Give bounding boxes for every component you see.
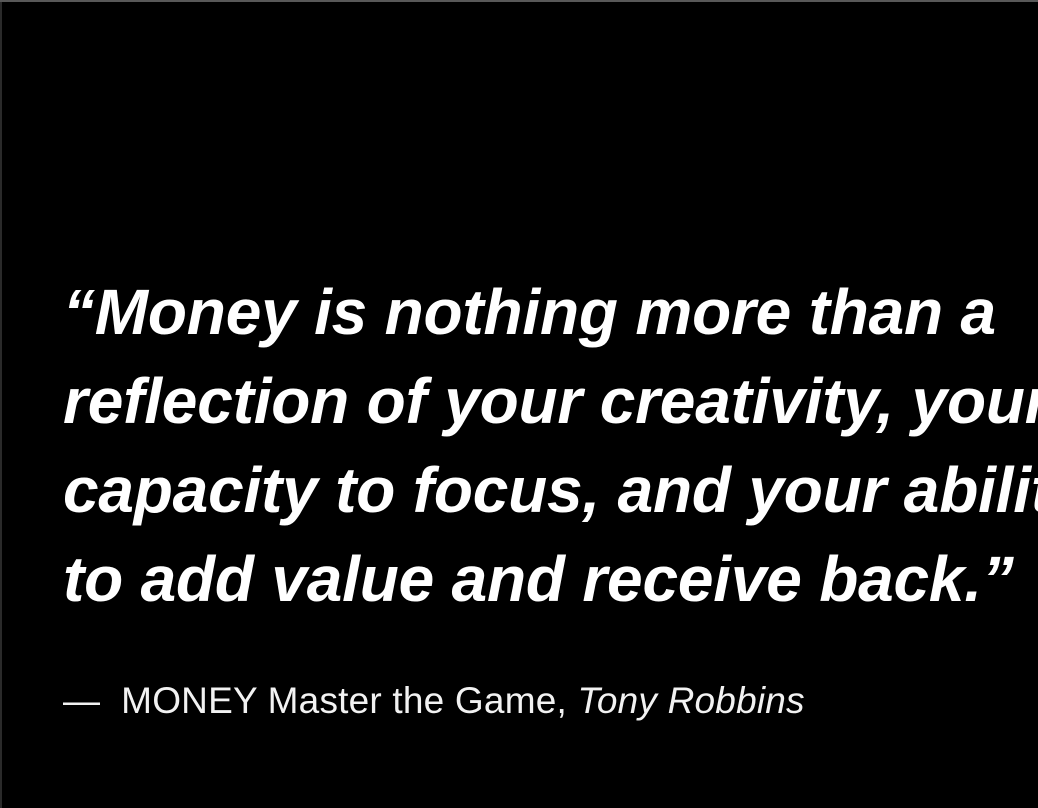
quote-line-1: “Money is nothing more than a bbox=[63, 268, 993, 357]
quote-line-4: to add value and receive back.” bbox=[63, 535, 993, 624]
attribution-space bbox=[567, 680, 577, 721]
attribution-source-title: MONEY Master the Game, bbox=[121, 680, 567, 721]
quote-line-2: reflection of your creativity, your bbox=[63, 357, 993, 446]
left-border-edge bbox=[0, 2, 2, 808]
quote-text-block: “Money is nothing more than a reflection… bbox=[63, 268, 993, 624]
attribution-author-name: Tony Robbins bbox=[577, 680, 804, 721]
quote-attribution: — MONEY Master the Game, Tony Robbins bbox=[63, 678, 805, 724]
em-dash-icon: — bbox=[63, 680, 100, 721]
quote-slide: “Money is nothing more than a reflection… bbox=[0, 0, 1038, 808]
quote-line-3: capacity to focus, and your ability bbox=[63, 446, 993, 535]
attribution-spacer bbox=[100, 680, 121, 721]
top-border-edge bbox=[0, 0, 1038, 2]
